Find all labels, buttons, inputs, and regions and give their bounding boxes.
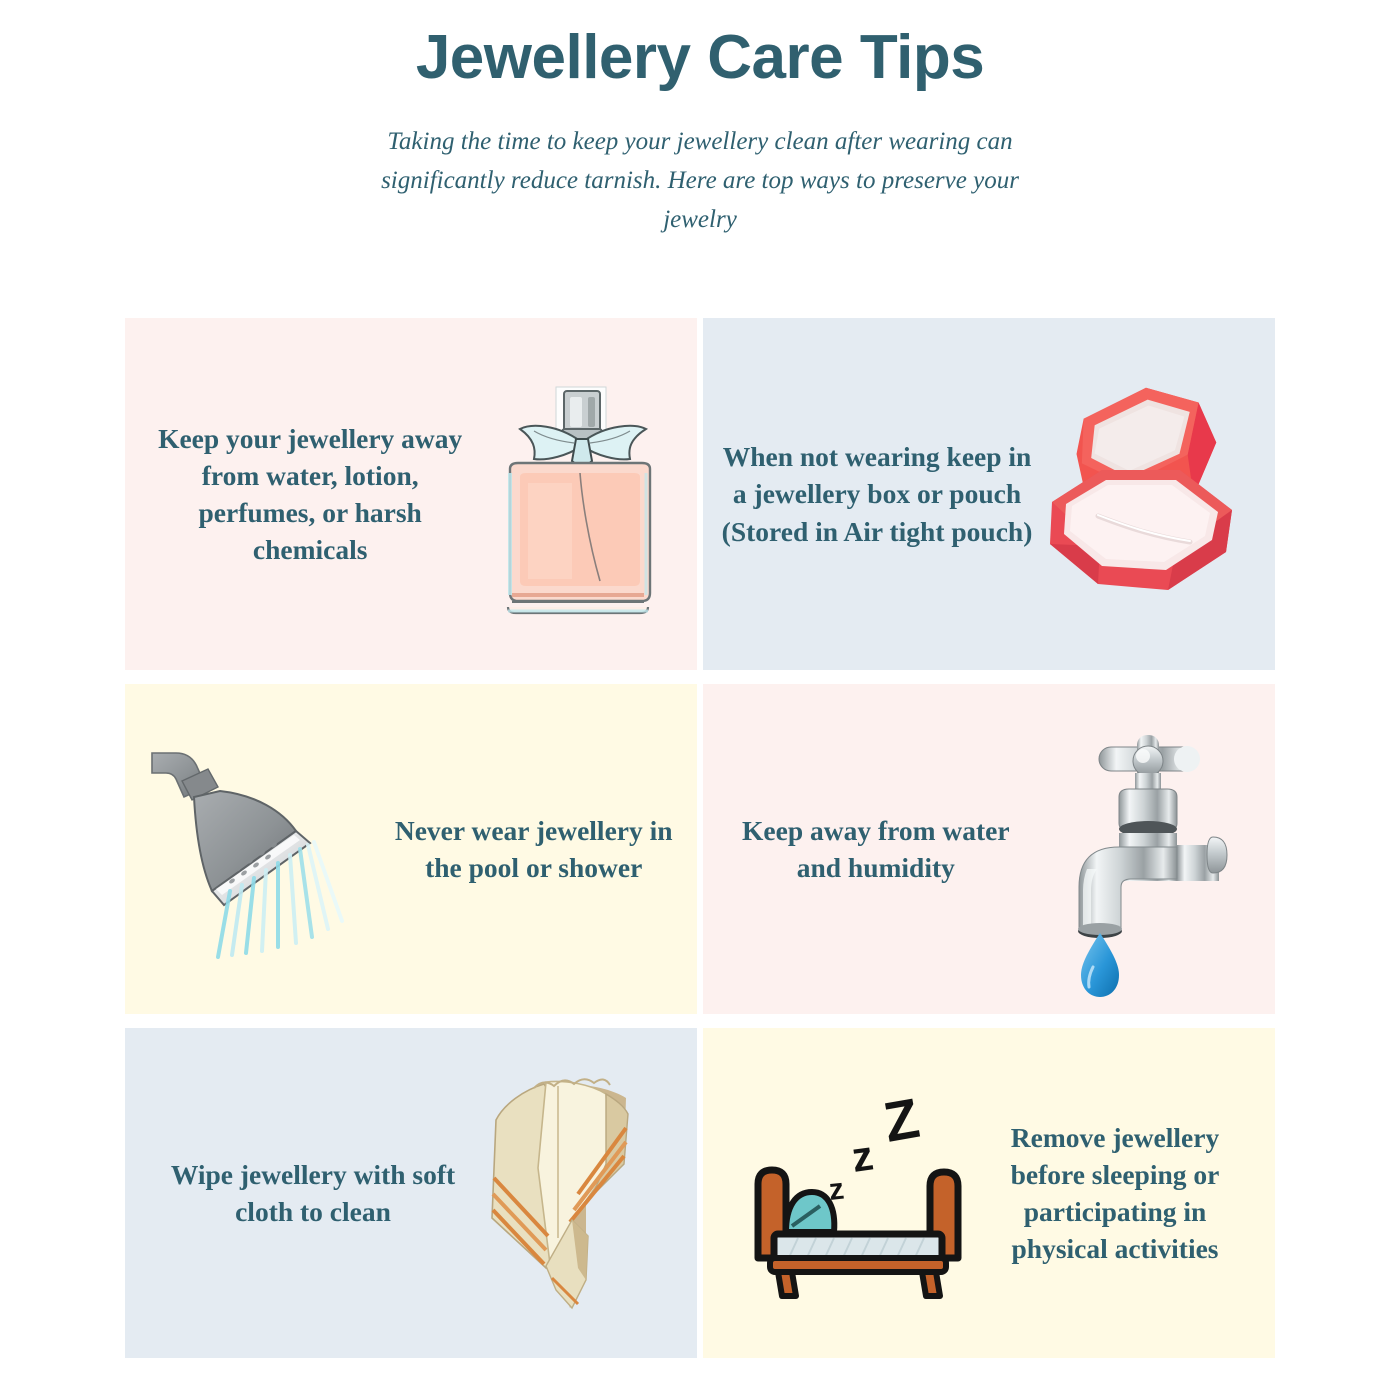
tip-card-2-label: When not wearing keep in a jewellery box… bbox=[715, 438, 1039, 549]
shower-head-icon bbox=[143, 739, 388, 959]
tip-card-3-label: Never wear jewellery in the pool or show… bbox=[388, 812, 679, 886]
faucet-icon bbox=[1019, 729, 1255, 969]
tip-card-5[interactable]: Wipe jewellery with soft cloth to clean bbox=[125, 1028, 697, 1358]
perfume-bottle-icon bbox=[473, 369, 683, 619]
header: Jewellery Care Tips Taking the time to k… bbox=[0, 0, 1400, 240]
tip-card-1-label: Keep your jewellery away from water, lot… bbox=[147, 420, 473, 569]
tip-card-6[interactable]: z z Z bbox=[703, 1028, 1275, 1358]
tip-card-4-label: Keep away from water and humidity bbox=[733, 812, 1019, 886]
tip-card-5-label: Wipe jewellery with soft cloth to clean bbox=[157, 1156, 469, 1230]
svg-text:Z: Z bbox=[879, 1086, 924, 1154]
tip-card-2[interactable]: When not wearing keep in a jewellery box… bbox=[703, 318, 1275, 670]
cloth-icon bbox=[469, 1068, 669, 1318]
page-title: Jewellery Care Tips bbox=[0, 22, 1400, 93]
bed-sleep-icon: z z Z bbox=[729, 1088, 979, 1298]
svg-text:z: z bbox=[849, 1131, 876, 1180]
tip-card-6-label: Remove jewellery before sleeping or part… bbox=[979, 1119, 1251, 1268]
tips-grid: Keep your jewellery away from water, lot… bbox=[125, 318, 1275, 1358]
tip-card-1[interactable]: Keep your jewellery away from water, lot… bbox=[125, 318, 697, 670]
tip-card-3[interactable]: Never wear jewellery in the pool or show… bbox=[125, 684, 697, 1014]
page-subtitle: Taking the time to keep your jewellery c… bbox=[380, 123, 1020, 239]
infographic-page: Jewellery Care Tips Taking the time to k… bbox=[0, 0, 1400, 1400]
jewellery-box-icon bbox=[1039, 374, 1261, 614]
tip-card-4[interactable]: Keep away from water and humidity bbox=[703, 684, 1275, 1014]
